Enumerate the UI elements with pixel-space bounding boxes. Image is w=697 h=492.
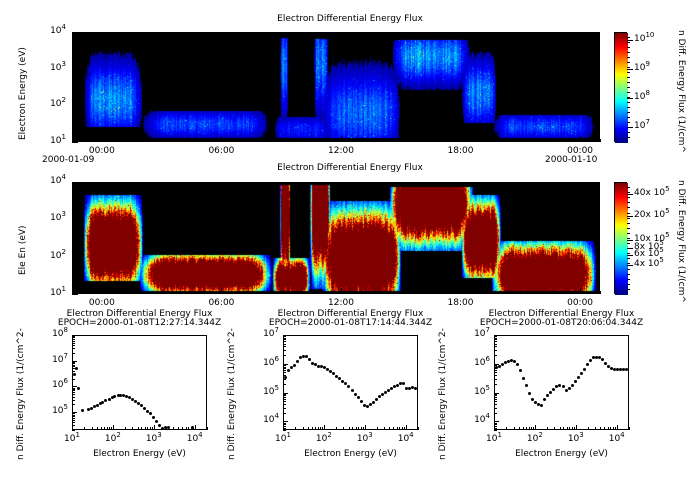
axis-tick-mark (600, 139, 601, 142)
axis-tick-mark (627, 238, 630, 239)
time-axis-tick-label: 18:00 (433, 146, 489, 156)
axis-tick-mark (72, 116, 75, 117)
axis-tick-mark (111, 427, 112, 430)
middle-colorbar[interactable] (614, 182, 627, 294)
axis-tick-mark (574, 427, 575, 430)
axis-tick-mark (72, 420, 75, 421)
axis-tick-mark (72, 43, 75, 44)
axis-tick-mark (82, 291, 83, 294)
axis-tick-mark (361, 427, 362, 430)
axis-tick-mark (72, 390, 75, 391)
energy-axis-tick-label: 102 (306, 434, 342, 444)
data-point (571, 384, 574, 387)
axis-tick-label: 108 (38, 329, 68, 339)
energy-axis-tick-label: 103 (136, 434, 172, 444)
axis-tick-mark (540, 291, 541, 294)
axis-tick-mark (162, 139, 163, 142)
axis-tick-mark (283, 341, 286, 342)
axis-tick-label: 105 (460, 387, 490, 397)
axis-tick-mark (627, 228, 630, 229)
axis-tick-mark (560, 427, 561, 430)
axis-tick-mark (283, 401, 286, 402)
axis-tick-mark (627, 265, 633, 266)
axis-tick-mark (162, 291, 163, 294)
axis-tick-mark (588, 427, 589, 430)
axis-tick-mark (150, 427, 151, 430)
axis-tick-mark (107, 427, 108, 430)
axis-tick-mark (627, 137, 630, 138)
axis-tick-mark (72, 348, 75, 349)
axis-tick-mark (283, 355, 286, 356)
axis-tick-mark (627, 202, 630, 203)
axis-tick-mark (384, 427, 385, 430)
axis-tick-mark (320, 427, 321, 430)
axis-tick-mark (72, 255, 75, 256)
axis-tick-mark (580, 139, 581, 142)
axis-tick-mark (627, 240, 633, 241)
axis-tick-mark (72, 231, 75, 232)
axis-tick-mark (627, 279, 630, 280)
axis-tick-mark (494, 355, 497, 356)
axis-tick-mark (627, 98, 633, 99)
axis-tick-mark (241, 139, 242, 142)
axis-tick-mark (101, 427, 102, 430)
axis-tick-label: 107 (249, 329, 279, 339)
axis-tick-mark (494, 344, 497, 345)
axis-tick-mark (72, 218, 75, 219)
axis-tick-mark (421, 139, 422, 142)
axis-tick-mark (506, 427, 507, 430)
axis-tick-mark (283, 375, 286, 376)
axis-tick-label: 102 (30, 251, 66, 261)
bottom-panel-epoch-3: EPOCH=2000-01-08T20:06:04.344Z (426, 318, 697, 328)
data-point (519, 369, 522, 372)
top-spectrogram-image (73, 33, 600, 142)
axis-tick-mark (303, 427, 304, 430)
axis-tick-mark (341, 139, 342, 142)
axis-tick-mark (72, 61, 75, 62)
axis-tick-mark (494, 350, 497, 351)
axis-tick-mark (84, 427, 85, 430)
axis-tick-mark (494, 368, 497, 369)
axis-tick-mark (72, 102, 75, 103)
data-point (625, 368, 628, 371)
axis-tick-mark (182, 427, 183, 430)
top-colorbar[interactable] (614, 32, 627, 142)
axis-tick-mark (494, 397, 497, 398)
axis-tick-mark (494, 365, 497, 366)
axis-tick-mark (494, 401, 497, 402)
axis-tick-mark (72, 237, 75, 238)
axis-tick-mark (494, 408, 497, 409)
axis-tick-mark (569, 427, 570, 430)
axis-tick-mark (494, 336, 497, 337)
axis-tick-mark (72, 54, 75, 55)
axis-tick-mark (72, 32, 78, 33)
axis-tick-mark (627, 112, 630, 113)
axis-tick-mark (401, 139, 402, 142)
axis-tick-mark (195, 425, 196, 430)
top-xaxis-start-date: 2000-01-09 (42, 155, 102, 165)
axis-tick-mark (72, 274, 75, 275)
data-point (586, 363, 589, 366)
axis-tick-mark (281, 291, 282, 294)
axis-tick-mark (241, 291, 242, 294)
data-point (152, 416, 155, 419)
data-point (577, 376, 580, 379)
axis-tick-mark (72, 104, 75, 105)
energy-axis-tick-label: 102 (517, 434, 553, 444)
axis-tick-mark (627, 213, 630, 214)
axis-tick-mark (324, 425, 325, 430)
data-point (75, 367, 78, 370)
axis-tick-mark (321, 291, 322, 294)
axis-tick-mark (301, 139, 302, 142)
axis-tick-mark (261, 139, 262, 142)
axis-tick-mark (283, 404, 286, 405)
axis-tick-label: 107 (38, 355, 68, 365)
data-point (568, 387, 571, 390)
axis-tick-mark (72, 268, 75, 269)
axis-tick-mark (283, 384, 286, 385)
axis-tick-mark (604, 427, 605, 430)
axis-tick-mark (526, 427, 527, 430)
axis-tick-mark (72, 286, 75, 287)
time-axis-tick-label: 06:00 (193, 146, 249, 156)
data-point (90, 407, 93, 410)
axis-tick-mark (377, 427, 378, 430)
axis-tick-mark (610, 427, 611, 430)
axis-tick-mark (352, 427, 353, 430)
axis-tick-mark (72, 415, 75, 416)
axis-tick-mark (283, 372, 286, 373)
data-point (372, 401, 375, 404)
axis-tick-mark (207, 427, 208, 430)
axis-tick-mark (72, 208, 75, 209)
energy-axis-tick-label: 104 (177, 434, 213, 444)
axis-tick-mark (186, 427, 187, 430)
axis-tick-mark (595, 427, 596, 430)
axis-tick-mark (72, 219, 78, 220)
axis-tick-mark (72, 394, 75, 395)
top-spectrogram-plot[interactable] (72, 32, 600, 142)
axis-tick-mark (608, 427, 609, 430)
axis-tick-mark (102, 139, 103, 142)
axis-tick-mark (402, 427, 403, 430)
axis-tick-mark (494, 341, 497, 342)
axis-tick-mark (72, 216, 75, 217)
axis-tick-mark (627, 258, 630, 259)
axis-tick-mark (560, 291, 561, 294)
axis-tick-label: 104 (30, 176, 66, 186)
axis-tick-mark (72, 413, 75, 414)
top-panel-ylabel: Electron Energy (eV) (18, 47, 28, 140)
data-point (104, 399, 107, 402)
axis-tick-mark (627, 52, 630, 53)
axis-tick-mark (494, 367, 497, 368)
axis-tick-mark (361, 139, 362, 142)
axis-tick-mark (494, 338, 497, 339)
axis-tick-mark (82, 139, 83, 142)
axis-tick-mark (72, 97, 75, 98)
axis-tick-mark (356, 427, 357, 430)
data-point (601, 358, 604, 361)
axis-tick-mark (318, 427, 319, 430)
axis-tick-mark (519, 427, 520, 430)
axis-tick-mark (72, 204, 75, 205)
energy-axis-tick-label: 104 (388, 434, 424, 444)
axis-tick-mark (72, 404, 75, 405)
energy-axis-tick-label: 104 (599, 434, 635, 444)
energy-axis-tick-label: 102 (95, 434, 131, 444)
axis-tick-mark (72, 142, 78, 143)
axis-tick-mark (72, 392, 75, 393)
axis-tick-label: 102 (30, 99, 66, 109)
axis-tick-mark (283, 350, 286, 351)
axis-tick-mark (72, 337, 75, 338)
axis-tick-mark (393, 427, 394, 430)
energy-axis-tick-label: 101 (54, 434, 90, 444)
axis-tick-mark (494, 425, 495, 430)
axis-tick-mark (72, 67, 75, 68)
axis-tick-mark (540, 139, 541, 142)
axis-tick-mark (104, 427, 105, 430)
time-axis-tick-label: 18:00 (433, 298, 489, 308)
axis-tick-mark (627, 62, 630, 63)
axis-tick-mark (627, 97, 630, 98)
axis-tick-mark (295, 427, 296, 430)
axis-tick-mark (109, 427, 110, 430)
data-point (414, 387, 417, 390)
axis-tick-mark (312, 427, 313, 430)
axis-tick-mark (627, 248, 630, 249)
axis-tick-mark (494, 339, 497, 340)
data-point (525, 384, 528, 387)
axis-tick-mark (627, 269, 630, 270)
axis-tick-mark (627, 57, 630, 58)
bottom-spectrum-plot-3[interactable] (494, 335, 629, 430)
axis-tick-mark (72, 422, 75, 423)
bottom-panel-ylabel-1: n Diff. Energy Flux (1/(cm^2- (16, 328, 26, 460)
axis-tick-mark (113, 425, 114, 430)
axis-tick-mark (533, 427, 534, 430)
axis-tick-mark (72, 416, 75, 417)
axis-tick-mark (72, 123, 75, 124)
axis-tick-mark (441, 291, 442, 294)
axis-tick-mark (627, 289, 630, 290)
axis-tick-mark (600, 427, 601, 430)
axis-tick-mark (72, 353, 75, 354)
axis-tick-mark (627, 216, 633, 217)
energy-axis-tick-label: 103 (558, 434, 594, 444)
axis-tick-mark (480, 291, 481, 294)
axis-tick-mark (72, 418, 75, 419)
data-point (549, 391, 552, 394)
axis-tick-mark (627, 233, 630, 234)
middle-spectrogram-plot[interactable] (72, 182, 600, 294)
axis-tick-mark (173, 427, 174, 430)
axis-tick-mark (72, 134, 75, 135)
axis-tick-mark (494, 395, 497, 396)
axis-tick-label: 104 (249, 415, 279, 425)
data-point (375, 398, 378, 401)
axis-tick-mark (404, 427, 405, 430)
axis-tick-mark (627, 82, 630, 83)
axis-tick-mark (480, 139, 481, 142)
bottom-panel-xlabel-1: Electron Energy (eV) (52, 449, 227, 459)
axis-tick-mark (580, 291, 581, 294)
axis-tick-mark (122, 139, 123, 142)
axis-tick-mark (627, 127, 630, 128)
axis-tick-mark (321, 139, 322, 142)
axis-tick-mark (301, 291, 302, 294)
axis-tick-mark (72, 86, 75, 87)
axis-tick-mark (627, 197, 630, 198)
axis-tick-mark (349, 427, 350, 430)
axis-tick-mark (381, 291, 382, 294)
data-point (546, 394, 549, 397)
axis-tick-mark (283, 413, 286, 414)
axis-tick-mark (322, 427, 323, 430)
data-point (516, 363, 519, 366)
axis-tick-mark (494, 404, 497, 405)
axis-tick-mark (308, 427, 309, 430)
axis-tick-mark (182, 139, 183, 142)
axis-tick-mark (576, 425, 577, 430)
data-point (287, 369, 290, 372)
axis-tick-mark (72, 69, 78, 70)
axis-tick-mark (617, 425, 618, 430)
axis-tick-mark (221, 291, 222, 294)
axis-tick-mark (72, 136, 75, 137)
time-axis-tick-label: 00:00 (74, 298, 130, 308)
axis-tick-mark (627, 72, 630, 73)
axis-tick-label: 104 (30, 26, 66, 36)
axis-tick-mark (627, 223, 630, 224)
data-point (552, 388, 555, 391)
axis-tick-mark (567, 427, 568, 430)
data-point (158, 424, 161, 427)
data-point (589, 359, 592, 362)
axis-tick-mark (72, 251, 75, 252)
axis-tick-mark (72, 363, 75, 364)
axis-tick-mark (72, 100, 75, 101)
axis-tick-label: 104 (460, 415, 490, 425)
axis-tick-mark (188, 427, 189, 430)
data-point (77, 387, 80, 390)
axis-tick-mark (72, 138, 75, 139)
axis-tick-mark (627, 192, 630, 193)
axis-tick-mark (365, 425, 366, 430)
data-point (360, 400, 363, 403)
time-axis-tick-label: 12:00 (313, 298, 369, 308)
axis-tick-mark (72, 362, 75, 363)
data-point (347, 385, 350, 388)
axis-tick-mark (72, 94, 75, 95)
axis-tick-mark (629, 427, 630, 430)
axis-tick-mark (283, 425, 284, 430)
data-point (354, 393, 357, 396)
middle-spectrogram-image (73, 183, 600, 294)
bottom-spectrum-plot-2[interactable] (283, 335, 418, 430)
axis-tick-mark (72, 400, 75, 401)
data-point (290, 366, 293, 369)
axis-tick-mark (92, 427, 93, 430)
axis-tick-mark (72, 63, 75, 64)
axis-tick-mark (627, 274, 630, 275)
bottom-spectrum-plot-1[interactable] (72, 335, 207, 430)
axis-tick-label: 101 (30, 136, 66, 146)
axis-tick-mark (627, 218, 630, 219)
axis-tick-mark (72, 294, 78, 295)
data-point (357, 396, 360, 399)
axis-tick-mark (147, 427, 148, 430)
data-point (308, 358, 311, 361)
axis-tick-mark (627, 67, 630, 68)
axis-tick-mark (72, 131, 75, 132)
axis-tick-mark (72, 242, 75, 243)
axis-tick-mark (72, 49, 75, 50)
axis-tick-mark (283, 397, 286, 398)
axis-tick-mark (531, 427, 532, 430)
axis-tick-mark (389, 427, 390, 430)
axis-tick-mark (72, 368, 75, 369)
axis-tick-mark (72, 182, 78, 183)
axis-tick-mark (363, 427, 364, 430)
axis-tick-mark (494, 423, 497, 424)
axis-tick-mark (494, 384, 497, 385)
axis-tick-mark (72, 290, 75, 291)
axis-tick-mark (381, 139, 382, 142)
axis-tick-mark (193, 427, 194, 430)
axis-tick-mark (358, 427, 359, 430)
axis-tick-mark (72, 371, 75, 372)
time-axis-tick-label: 00:00 (552, 298, 608, 308)
energy-axis-tick-label: 101 (265, 434, 301, 444)
axis-tick-mark (97, 427, 98, 430)
axis-tick-mark (72, 105, 78, 106)
axis-tick-mark (315, 427, 316, 430)
time-axis-tick-label: 12:00 (313, 146, 369, 156)
axis-tick-mark (627, 187, 630, 188)
axis-tick-mark (166, 427, 167, 430)
axis-tick-mark (283, 339, 286, 340)
axis-tick-mark (72, 127, 75, 128)
axis-tick-mark (221, 139, 222, 142)
axis-tick-mark (421, 291, 422, 294)
axis-tick-mark (494, 379, 497, 380)
data-point (149, 412, 152, 415)
axis-tick-mark (627, 107, 630, 108)
middle-panel-title: Electron Differential Energy Flux (190, 163, 510, 173)
bottom-panel-ylabel-2: n Diff. Energy Flux (1/(cm^2- (227, 328, 237, 460)
data-point (528, 392, 531, 395)
axis-tick-mark (529, 427, 530, 430)
axis-tick-mark (72, 58, 75, 59)
data-point (540, 404, 543, 407)
axis-tick-mark (72, 279, 75, 280)
axis-tick-mark (627, 102, 630, 103)
data-point (583, 368, 586, 371)
axis-tick-mark (535, 425, 536, 430)
data-point (543, 398, 546, 401)
data-point (351, 389, 354, 392)
axis-tick-mark (418, 427, 419, 430)
axis-tick-mark (132, 427, 133, 430)
axis-tick-mark (341, 291, 342, 294)
axis-tick-mark (500, 291, 501, 294)
axis-tick-mark (523, 427, 524, 430)
